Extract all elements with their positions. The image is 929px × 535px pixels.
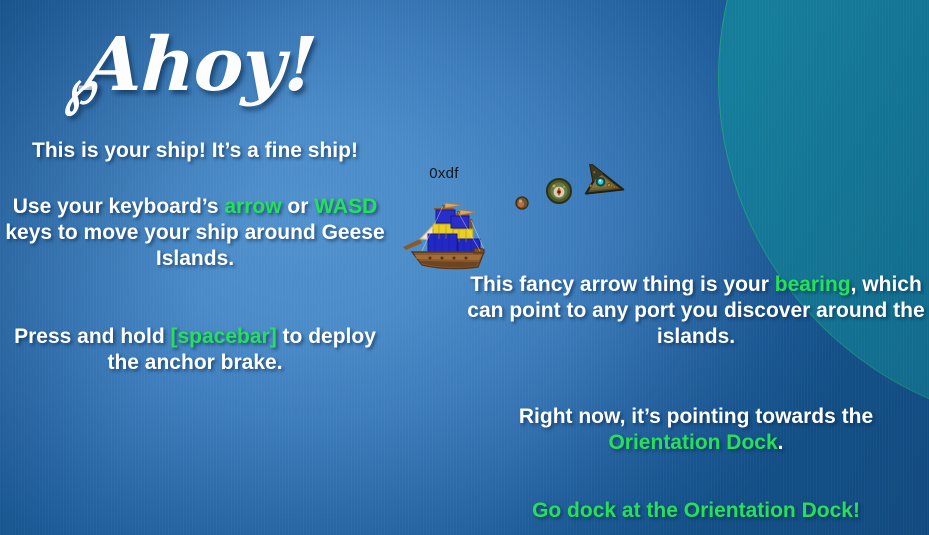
ship-name-label: 0xdf [398, 165, 490, 182]
compass-ring-icon [545, 177, 573, 205]
ship-intro-text: This is your ship! It’s a fine ship! [0, 138, 390, 164]
objective-wrapper: Go dock at the Orientation Dock! [466, 498, 926, 524]
objective-text: Go dock at the Orientation Dock! [466, 498, 926, 524]
arrow-keys-highlight: arrow [224, 195, 281, 218]
left-instruction-column: This is your ship! It’s a fine ship! Use… [0, 138, 390, 376]
movement-instruction-text: Use your keyboard’s arrow or WASD keys t… [0, 194, 390, 272]
right-instruction-column: This fancy arrow thing is your bearing, … [466, 272, 926, 524]
current-target-text: Right now, it’s pointing towards the Ori… [466, 404, 926, 456]
page-title: ℘Ahoy! [0, 28, 382, 102]
title-swash-ornament-icon: ℘ [61, 63, 96, 113]
bearing-arrow-icon[interactable] [580, 164, 628, 204]
bearing-term-highlight: bearing [775, 273, 851, 296]
bearing-trail-dot-icon [514, 195, 530, 211]
anchor-brake-instruction-text: Press and hold [spacebar] to deploy the … [0, 324, 390, 376]
bearing-explanation-text: This fancy arrow thing is your bearing, … [466, 272, 926, 350]
game-scene: ℘Ahoy! This is your ship! It’s a fine sh… [0, 0, 929, 535]
wasd-keys-highlight: WASD [314, 195, 377, 218]
sailing-ship-sprite[interactable] [400, 189, 488, 271]
spacebar-key-highlight: [spacebar] [170, 325, 276, 348]
orientation-dock-highlight: Orientation Dock [608, 431, 777, 454]
player-ship-group[interactable]: 0xdf [398, 165, 490, 275]
title-text: Ahoy! [83, 22, 319, 108]
